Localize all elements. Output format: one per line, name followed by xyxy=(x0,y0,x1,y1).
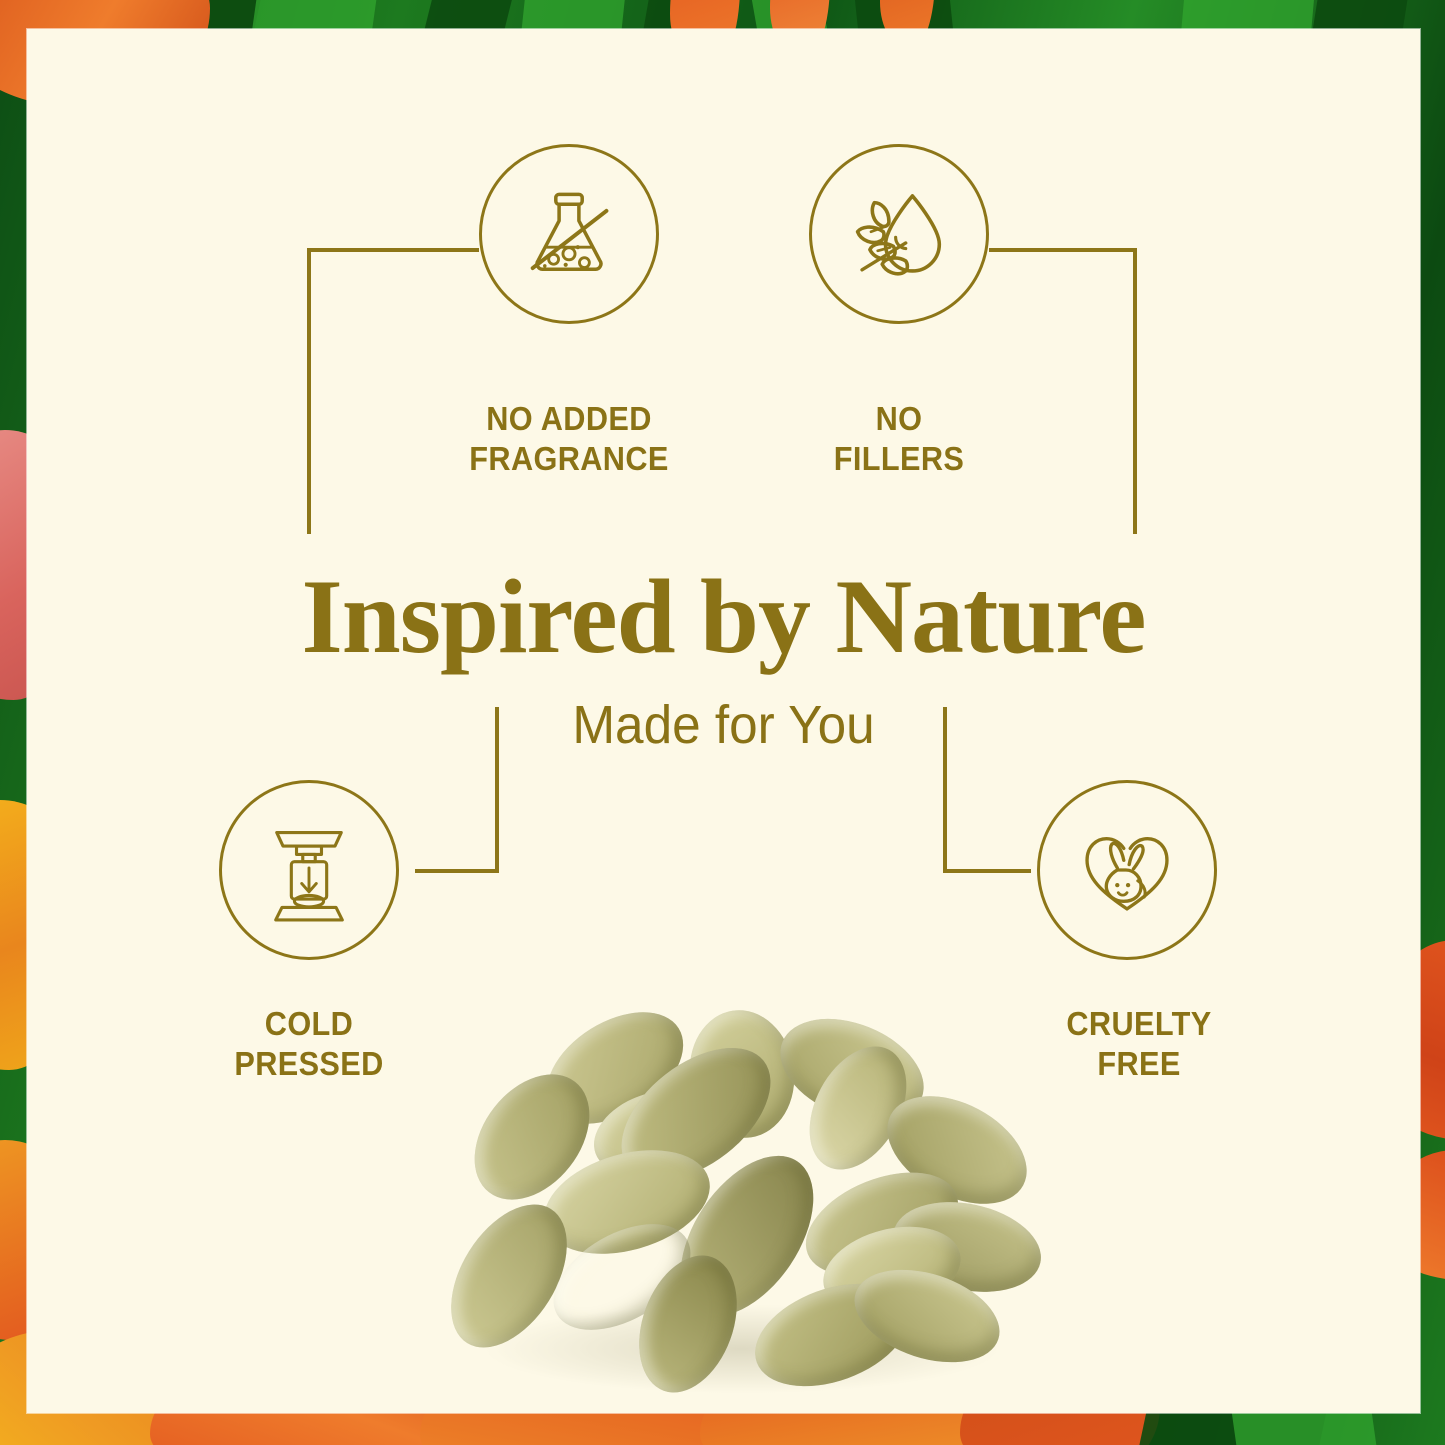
flask-crossed-out-icon xyxy=(514,179,624,289)
page-title: Inspired by Nature xyxy=(27,556,1420,678)
page-subtitle: Made for You xyxy=(62,694,1385,756)
poster: NO ADDED FRAGRANCE NO FIL xyxy=(0,0,1445,1445)
connector-no-fillers-horizontal xyxy=(989,248,1137,252)
connector-no-fillers-vertical xyxy=(1133,248,1137,534)
connector-cold-pressed-horizontal xyxy=(415,869,499,873)
droplet-leaf-icon xyxy=(843,178,955,290)
product-image-pumpkin-seeds xyxy=(422,1004,1062,1404)
rabbit-heart-icon xyxy=(1073,816,1181,924)
badge-label-no-added-fragrance: NO ADDED FRAGRANCE xyxy=(430,399,709,480)
oil-press-icon xyxy=(257,818,361,922)
content-panel: NO ADDED FRAGRANCE NO FIL xyxy=(27,29,1420,1413)
connector-cruelty-free-horizontal xyxy=(943,869,1031,873)
badge-no-fillers xyxy=(809,144,989,324)
badge-cruelty-free xyxy=(1037,780,1217,960)
connector-no-added-fragrance-horizontal xyxy=(307,248,479,252)
badge-label-no-fillers: NO FILLERS xyxy=(760,399,1039,480)
badge-cold-pressed xyxy=(219,780,399,960)
connector-no-added-fragrance-vertical xyxy=(307,248,311,534)
badge-no-added-fragrance xyxy=(479,144,659,324)
badge-label-cold-pressed: COLD PRESSED xyxy=(170,1004,449,1085)
